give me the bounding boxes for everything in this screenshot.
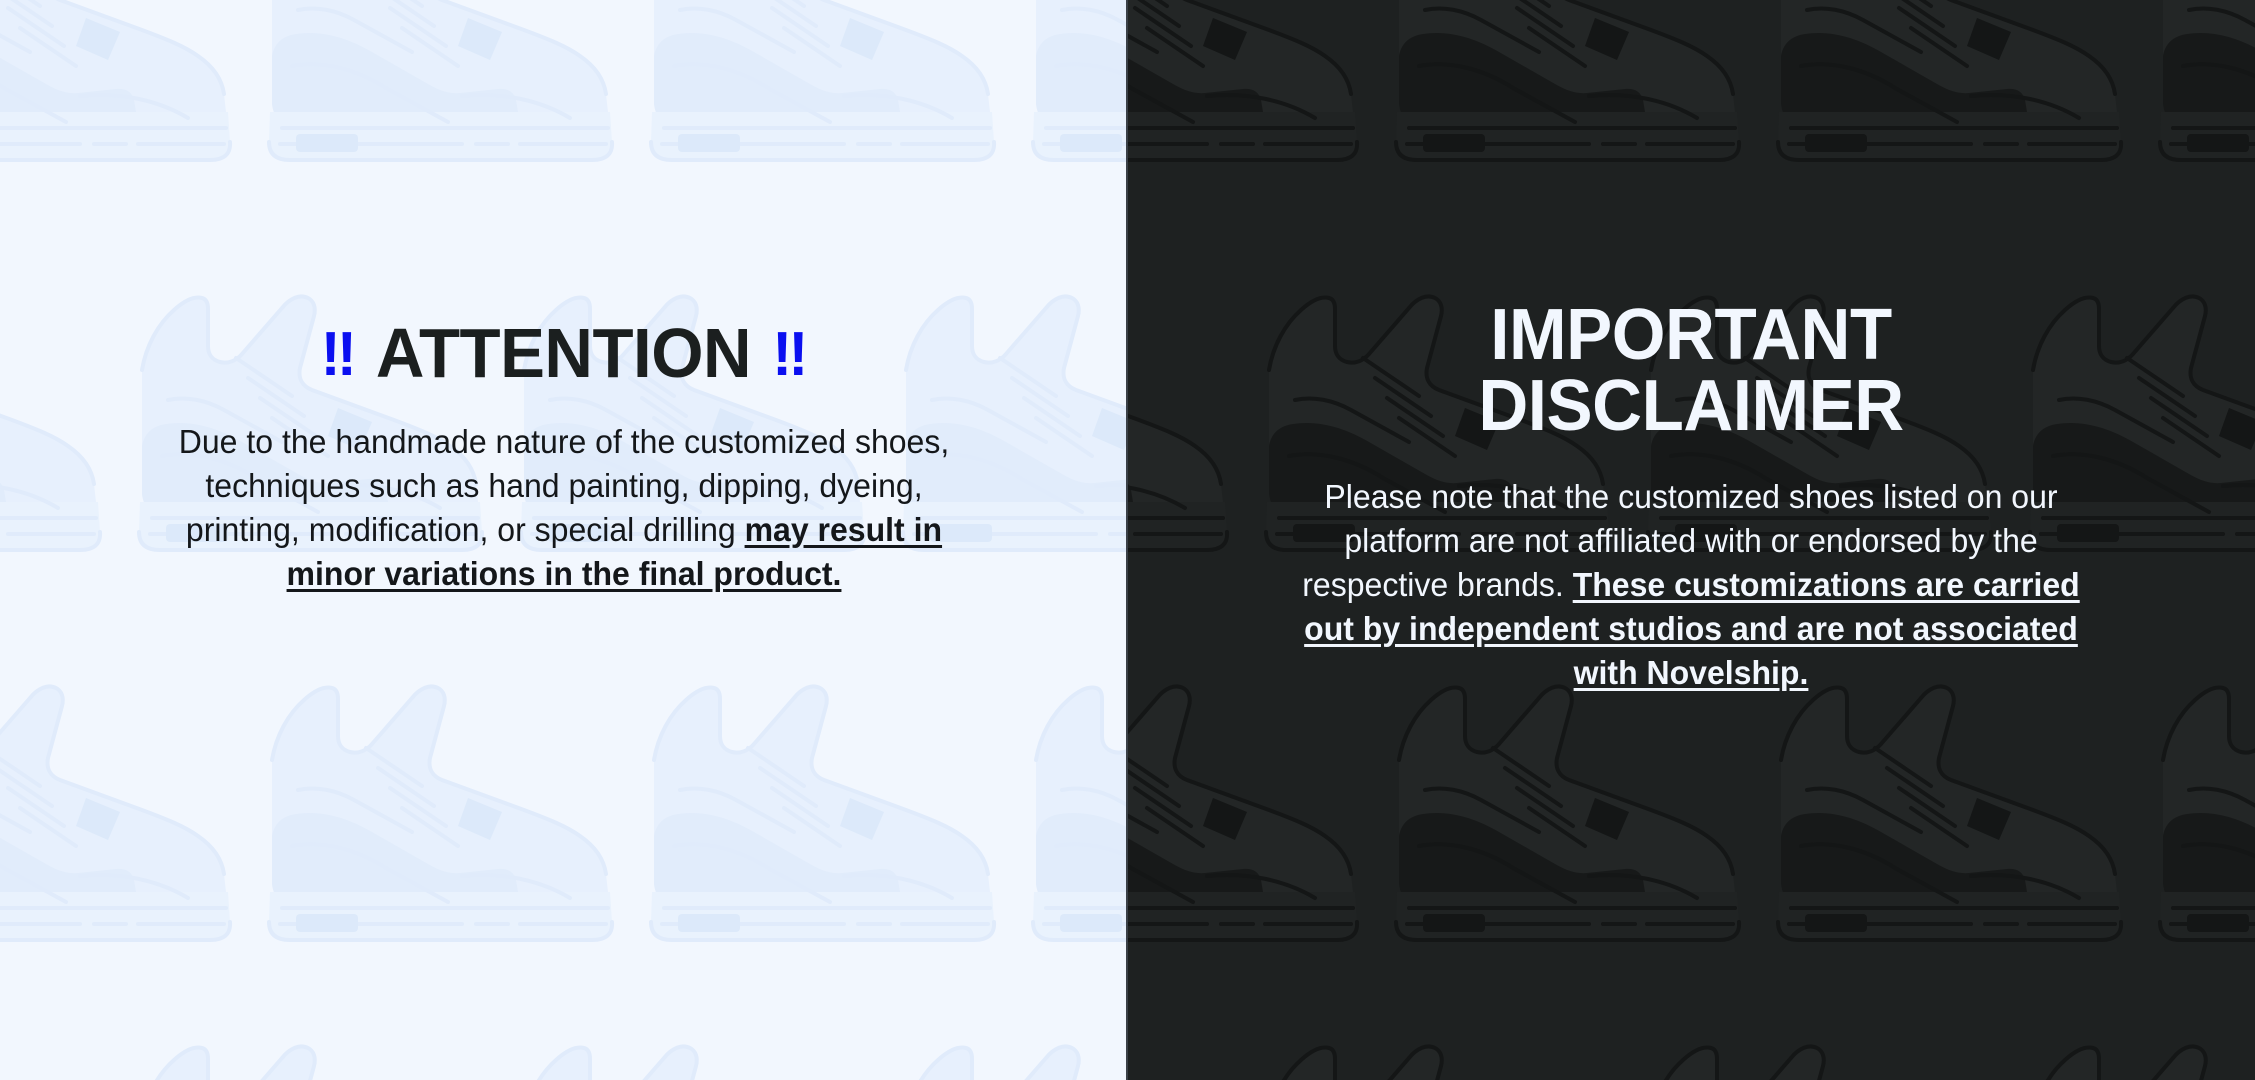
disclaimer-heading-line1: IMPORTANT <box>1490 295 1891 375</box>
disclaimer-panel: IMPORTANT DISCLAIMER Please note that th… <box>1127 0 2255 1080</box>
attention-panel: ‼ATTENTION‼ Due to the handmade nature o… <box>0 0 1127 1080</box>
attention-heading: ‼ATTENTION‼ <box>23 318 1105 388</box>
disclaimer-body: Please note that the customized shoes li… <box>1293 475 2088 694</box>
double-exclamation-right-icon: ‼ <box>772 320 806 389</box>
attention-body: Due to the handmade nature of the custom… <box>176 420 952 596</box>
panel-divider <box>1126 0 1128 1080</box>
disclaimer-heading: IMPORTANT DISCLAIMER <box>1150 300 2233 441</box>
attention-content: ‼ATTENTION‼ Due to the handmade nature o… <box>0 318 1127 596</box>
disclaimer-banner: ‼ATTENTION‼ Due to the handmade nature o… <box>0 0 2255 1080</box>
attention-heading-label: ATTENTION <box>376 314 751 392</box>
double-exclamation-left-icon: ‼ <box>321 320 355 389</box>
disclaimer-content: IMPORTANT DISCLAIMER Please note that th… <box>1127 300 2255 694</box>
disclaimer-heading-line2: DISCLAIMER <box>1478 366 1903 446</box>
